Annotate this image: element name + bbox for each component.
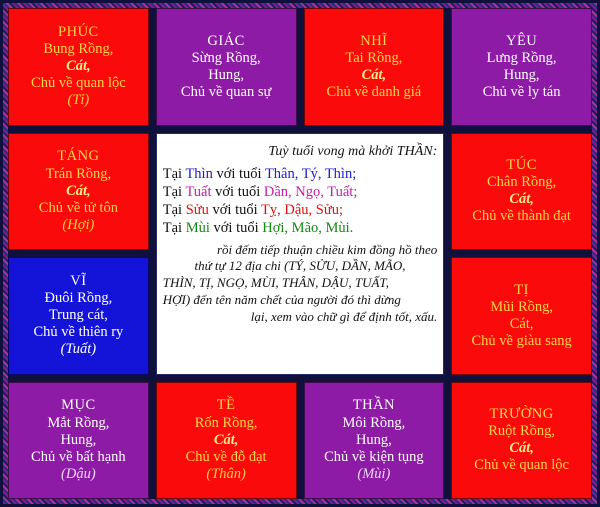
center-note: rồi đếm tiếp thuận chiều kim đồng hồ the… <box>163 242 438 326</box>
rule-suu-ages: Tỵ, Dậu, Sửu; <box>261 202 343 218</box>
rule-thin-ages: Thân, Tý, Thìn; <box>265 166 356 182</box>
cell-muc-branch: (Dậu) <box>61 466 96 483</box>
cell-phuc-part: Bụng Rồng, <box>43 41 113 58</box>
cell-te-fate: Cát, <box>214 432 239 449</box>
cell-muc-fate: Hung, <box>60 432 96 449</box>
cell-nhi-part: Tai Rồng, <box>345 50 402 67</box>
cell-phuc[interactable]: PHÚC Bụng Rồng, Cát, Chủ về quan lộc (Tỉ… <box>8 8 149 126</box>
cell-te[interactable]: TỀ Rốn Rồng, Cát, Chủ về đỗ đạt (Thân) <box>156 382 297 500</box>
rule-mui-mid: với tuổi <box>210 220 262 236</box>
cell-ti-meaning: Chủ về giàu sang <box>471 333 571 350</box>
cell-yeu-part: Lưng Rồng, <box>487 50 557 67</box>
cell-truong-name: TRƯỜNG <box>490 406 554 423</box>
center-note-line-4: HỢI) đến tên năm chết của người đó thì d… <box>163 292 438 309</box>
center-heading: Tuỳ tuổi vong mà khởi THẦN: <box>163 144 438 160</box>
cell-muc[interactable]: MỤC Mắt Rồng, Hung, Chủ về bất hạnh (Dậu… <box>8 382 149 500</box>
cell-truong-fate: Cát, <box>509 440 534 457</box>
cell-truong[interactable]: TRƯỜNG Ruột Rồng, Cát, Chủ về quan lộc <box>451 382 592 500</box>
rule-line-tuat: Tại Tuất với tuổi Dần, Ngọ, Tuất; <box>163 183 438 201</box>
cell-yeu[interactable]: YÊU Lưng Rồng, Hung, Chủ về ly tán <box>451 8 592 126</box>
cell-than-name: THẦN <box>353 397 395 414</box>
center-note-line-3: THÌN, TỊ, NGỌ, MÙI, THÂN, DẬU, TUẤT, <box>163 275 438 292</box>
cell-nhi[interactable]: NHĨ Tai Rồng, Cát, Chủ về danh giá <box>304 8 445 126</box>
cell-te-meaning: Chủ về đỗ đạt <box>186 449 267 466</box>
center-instruction-panel: Tuỳ tuổi vong mà khởi THẦN: Tại Thìn với… <box>156 133 445 375</box>
cell-vi[interactable]: VĨ Đuôi Rồng, Trung cát, Chủ về thiên ry… <box>8 257 149 375</box>
cell-te-part: Rốn Rồng, <box>195 415 258 432</box>
rule-thin-prefix: Tại <box>163 166 186 182</box>
rule-tuat-ages: Dần, Ngọ, Tuất; <box>264 184 357 200</box>
cell-tang-fate: Cát, <box>66 183 91 200</box>
cell-than-meaning: Chủ về kiện tụng <box>324 449 423 466</box>
rule-line-mui: Tại Mùi với tuổi Hợi, Mão, Mùi. <box>163 219 438 237</box>
cell-nhi-meaning: Chủ về danh giá <box>327 84 422 101</box>
cell-tuc-name: TÚC <box>506 157 537 174</box>
cell-giac-part: Sừng Rồng, <box>192 50 261 67</box>
cell-vi-part: Đuôi Rồng, <box>45 290 113 307</box>
cell-muc-meaning: Chủ về bất hạnh <box>31 449 126 466</box>
rule-suu-prefix: Tại <box>163 202 186 218</box>
cell-giac[interactable]: GIÁC Sừng Rồng, Hung, Chủ về quan sự <box>156 8 297 126</box>
cell-tang-name: TÁNG <box>57 148 99 165</box>
cell-truong-meaning: Chủ về quan lộc <box>474 457 569 474</box>
cell-vi-meaning: Chủ về thiên ry <box>33 324 123 341</box>
cell-tuc-meaning: Chủ về thành đạt <box>472 208 571 225</box>
cell-te-name: TỀ <box>217 397 236 414</box>
cell-tuc-fate: Cát, <box>509 191 534 208</box>
cell-ti-fate: Cát, <box>510 316 534 333</box>
cell-nhi-name: NHĨ <box>360 33 387 50</box>
rule-tuat-place: Tuất <box>185 184 211 200</box>
chart-grid: PHÚC Bụng Rồng, Cát, Chủ về quan lộc (Tỉ… <box>8 8 592 499</box>
cell-tuc-part: Chân Rồng, <box>487 174 556 191</box>
rule-thin-place: Thìn <box>185 166 212 182</box>
center-note-line-5: lại, xem vào chữ gì để định tốt, xấu. <box>163 309 438 326</box>
cell-truong-part: Ruột Rồng, <box>488 423 555 440</box>
cell-te-branch: (Thân) <box>206 466 245 483</box>
dragon-chart-board: PHÚC Bụng Rồng, Cát, Chủ về quan lộc (Tỉ… <box>0 0 600 507</box>
cell-vi-name: VĨ <box>70 273 86 290</box>
center-note-line-2: thứ tự 12 địa chi (TÝ, SỬU, DẦN, MÃO, <box>163 258 438 275</box>
cell-muc-part: Mắt Rồng, <box>47 415 109 432</box>
cell-tang[interactable]: TÁNG Trán Rồng, Cát, Chủ về tử tôn (Hợi) <box>8 133 149 251</box>
cell-phuc-fate: Cát, <box>66 58 91 75</box>
cell-nhi-fate: Cát, <box>362 67 387 84</box>
cell-muc-name: MỤC <box>61 397 96 414</box>
rule-tuat-prefix: Tại <box>163 184 186 200</box>
cell-phuc-meaning: Chủ về quan lộc <box>31 75 126 92</box>
cell-vi-fate: Trung cát, <box>49 307 108 324</box>
cell-phuc-branch: (Tỉ) <box>68 92 90 109</box>
rule-line-suu: Tại Sửu với tuổi Tỵ, Dậu, Sửu; <box>163 201 438 219</box>
cell-than-branch: (Mùi) <box>357 466 390 483</box>
cell-giac-meaning: Chủ về quan sự <box>181 84 271 101</box>
cell-giac-name: GIÁC <box>207 33 244 50</box>
cell-giac-fate: Hung, <box>208 67 244 84</box>
rule-suu-mid: với tuổi <box>209 202 261 218</box>
rule-mui-place: Mùi <box>186 220 210 236</box>
rule-mui-prefix: Tại <box>163 220 186 236</box>
cell-tang-branch: (Hợi) <box>62 217 94 234</box>
cell-tuc[interactable]: TÚC Chân Rồng, Cát, Chủ về thành đạt <box>451 133 592 251</box>
cell-ti-part: Mũi Rồng, <box>490 299 553 316</box>
cell-vi-branch: (Tuất) <box>61 341 96 358</box>
rule-line-thin: Tại Thìn với tuổi Thân, Tý, Thìn; <box>163 165 438 183</box>
cell-ti[interactable]: TỊ Mũi Rồng, Cát, Chủ về giàu sang <box>451 257 592 375</box>
cell-tang-part: Trán Rồng, <box>46 166 112 183</box>
rule-mui-ages: Hợi, Mão, Mùi. <box>262 220 353 236</box>
cell-yeu-name: YÊU <box>506 33 537 50</box>
cell-phuc-name: PHÚC <box>58 24 99 41</box>
cell-ti-name: TỊ <box>514 282 529 299</box>
rule-suu-place: Sửu <box>186 202 209 218</box>
cell-tang-meaning: Chủ về tử tôn <box>39 200 118 217</box>
cell-yeu-meaning: Chủ về ly tán <box>483 84 561 101</box>
rule-thin-mid: với tuổi <box>213 166 265 182</box>
rule-tuat-mid: với tuổi <box>212 184 264 200</box>
cell-than-part: Môi Rồng, <box>342 415 405 432</box>
cell-than[interactable]: THẦN Môi Rồng, Hung, Chủ về kiện tụng (M… <box>304 382 445 500</box>
center-note-line-1: rồi đếm tiếp thuận chiều kim đồng hồ the… <box>163 242 438 259</box>
cell-yeu-fate: Hung, <box>504 67 540 84</box>
cell-than-fate: Hung, <box>356 432 392 449</box>
